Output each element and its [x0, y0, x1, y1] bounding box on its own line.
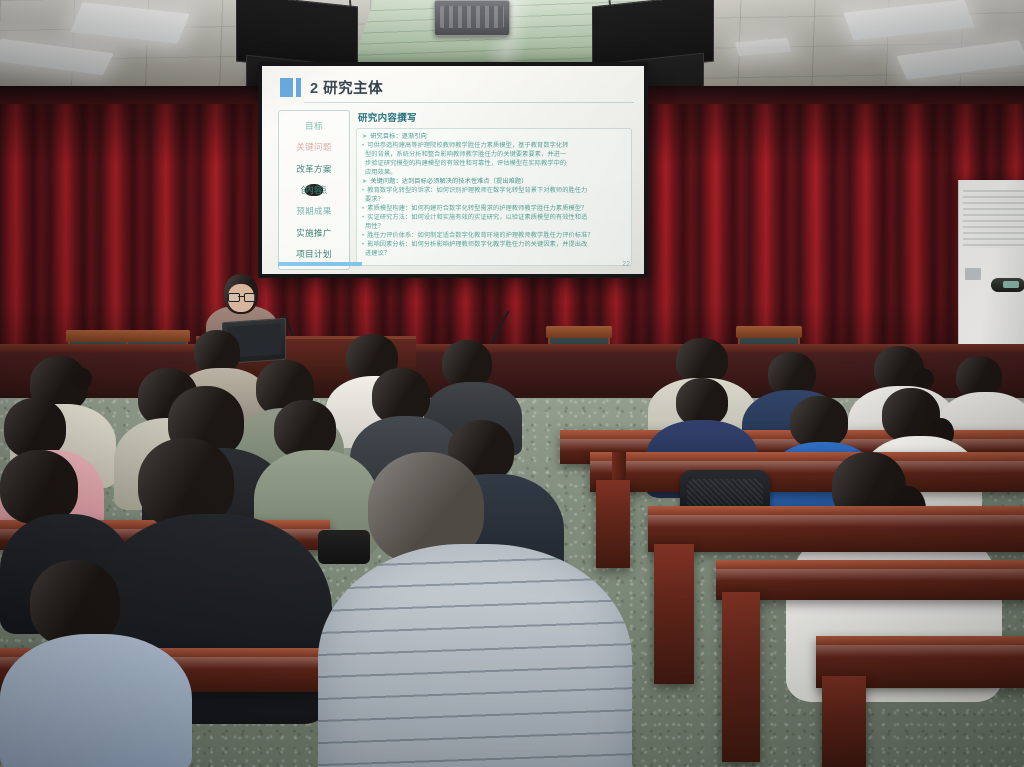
- slide-sidebar-item-7: 项目计划: [296, 248, 332, 260]
- bag-icon: [318, 530, 370, 564]
- content-line-text: 步验证研究模型的构建模型的有效性和可靠性，评估模型在实际教学中的: [365, 160, 566, 169]
- content-line-2: 型的背景，系统分析和整合影响教师教学胜任力的关键要素要素，并进一: [362, 151, 626, 160]
- content-line-11: •胜任力评价体系：如何制定适合数字化教育环境的护理教师教学胜任力评价标准？: [362, 232, 626, 241]
- projection-screen[interactable]: 2 研究主体 内容目标关键问题改革方案创新点预期成果实施推广项目计划 研究内容撰…: [262, 66, 644, 274]
- content-line-text: 素质模型构建：如何构建符合数字化转型需求的护理教师教学胜任力素质模型？: [367, 205, 587, 214]
- content-line-12: •影响因素分析：如何分析影响护理教师数字化教学胜任力的关键因素，并提出改: [362, 241, 626, 250]
- bullet-icon: •: [362, 205, 364, 214]
- bullet-icon: •: [362, 187, 364, 196]
- content-line-text: 应用效果。: [365, 169, 396, 178]
- content-line-1: •可供参造构建高等护理院校教师教学胜任力素质模型，基于教育数字化转: [362, 142, 626, 151]
- presentation-slide: 2 研究主体 内容目标关键问题改革方案创新点预期成果实施推广项目计划 研究内容撰…: [262, 66, 644, 274]
- slide-sidebar-item-5: 预期成果: [296, 205, 332, 217]
- bullet-icon: •: [362, 142, 364, 151]
- ac-logo: [965, 268, 981, 280]
- content-line-13: 进建议？: [362, 250, 626, 259]
- bullet-icon: •: [362, 214, 364, 223]
- content-line-8: •素质模型构建：如何构建符合数字化转型需求的护理教师教学胜任力素质模型？: [362, 205, 626, 214]
- conference-room-photo: 2 研究主体 内容目标关键问题改革方案创新点预期成果实施推广项目计划 研究内容撰…: [0, 0, 1024, 767]
- slide-sidebar-item-6: 实施推广: [296, 227, 332, 239]
- slide-sidebar-item-1: 目标: [305, 120, 323, 132]
- bullet-icon: ➤: [362, 178, 367, 187]
- content-line-text: 用性？: [365, 223, 384, 232]
- content-line-text: 可供参造构建高等护理院校教师教学胜任力素质模型，基于教育数字化转: [367, 142, 568, 151]
- slide-sidebar-item-2: 关键问题: [296, 141, 332, 153]
- slide-sidebar: 内容目标关键问题改革方案创新点预期成果实施推广项目计划: [278, 110, 350, 270]
- slide-title-row: 2 研究主体: [280, 77, 383, 98]
- content-line-text: 影响因素分析：如何分析影响护理教师数字化教学胜任力的关键因素，并提出改: [367, 241, 587, 250]
- ac-display-panel[interactable]: [991, 278, 1024, 292]
- content-line-text: 胜任力评价体系：如何制定适合数字化教育环境的护理教师教学胜任力评价标准？: [367, 232, 593, 241]
- ac-vent-top: [963, 190, 1024, 248]
- shirt-stripes: [318, 544, 632, 767]
- audience-desk: [716, 560, 1024, 600]
- audience-desk: [648, 506, 1024, 552]
- content-line-3: 步验证研究模型的构建模型的有效性和可靠性，评估模型在实际教学中的: [362, 160, 626, 169]
- slide-sidebar-item-0: 内容: [305, 184, 323, 196]
- content-line-6: •教育数字化转型的诉求：如何识别护理教师在数字化转型背景下对教师的胜任力: [362, 187, 626, 196]
- slide-content: 研究内容撰写 ➤研究目标：逐渐引向•可供参造构建高等护理院校教师教学胜任力素质模…: [356, 110, 632, 260]
- slide-sidebar-item-3: 改革方案: [296, 163, 332, 175]
- content-line-9: •实证研究方法：如何设计和实施有效的实证研究，以验证素质模型的有效性和适: [362, 214, 626, 223]
- desk-side-panel: [822, 676, 866, 767]
- slide-page-number: 22: [622, 261, 630, 268]
- content-line-text: 要求？: [365, 196, 384, 205]
- bullet-icon: •: [362, 232, 364, 241]
- content-line-0: ➤研究目标：逐渐引向: [362, 133, 626, 142]
- blue-bars-icon: [280, 78, 301, 97]
- slide-accent-bar: [278, 262, 362, 266]
- content-line-text: 关键问题：达到目标必须解决的技术性难点（提出难题）: [370, 178, 527, 187]
- desk-side-panel: [654, 544, 694, 684]
- glasses-icon: [228, 293, 254, 300]
- desk-side-panel: [596, 480, 630, 568]
- title-underline: [304, 102, 634, 103]
- desk-side-panel: [722, 592, 760, 762]
- content-line-text: 实证研究方法：如何设计和实施有效的实证研究，以验证素质模型的有效性和适: [367, 214, 587, 223]
- content-line-7: 要求？: [362, 196, 626, 205]
- content-line-text: 进建议？: [365, 250, 390, 259]
- content-line-10: 用性？: [362, 223, 626, 232]
- content-body: ➤研究目标：逐渐引向•可供参造构建高等护理院校教师教学胜任力素质模型，基于教育数…: [356, 128, 632, 266]
- bullet-icon: ➤: [362, 133, 367, 142]
- content-line-text: 教育数字化转型的诉求：如何识别护理教师在数字化转型背景下对教师的胜任力: [367, 187, 587, 196]
- content-line-text: 型的背景，系统分析和整合影响教师教学胜任力的关键要素要素，并进一: [365, 151, 566, 160]
- audience-desk: [590, 452, 1024, 492]
- content-heading: 研究内容撰写: [358, 110, 632, 124]
- slide-title: 2 研究主体: [310, 77, 383, 98]
- content-line-5: ➤关键问题：达到目标必须解决的技术性难点（提出难题）: [362, 178, 626, 187]
- content-line-4: 应用效果。: [362, 169, 626, 178]
- content-line-text: 研究目标：逐渐引向: [370, 133, 427, 142]
- bullet-icon: •: [362, 241, 364, 250]
